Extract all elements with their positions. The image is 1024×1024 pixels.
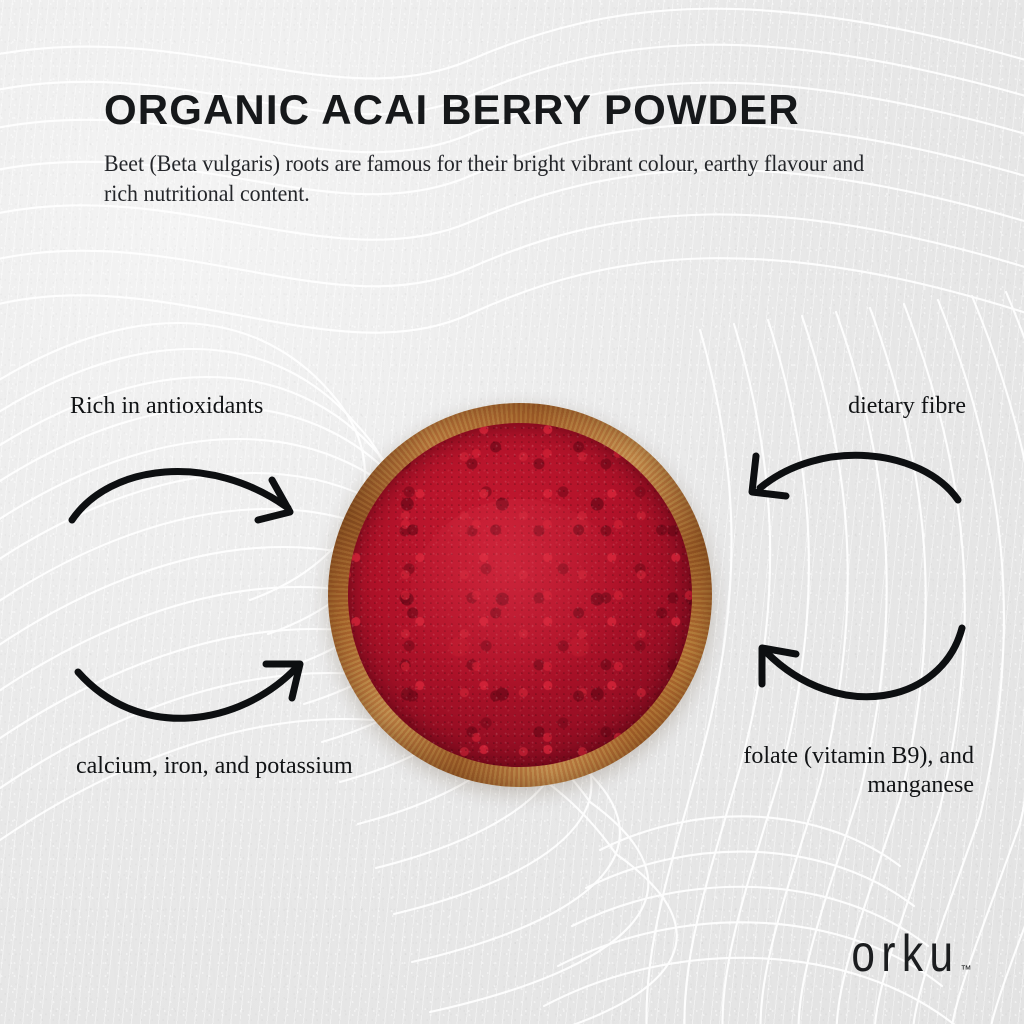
callout-calcium-iron-potassium: calcium, iron, and potassium [76,752,366,781]
header-block: ORGANIC ACAI BERRY POWDER Beet (Beta vul… [104,88,954,210]
callout-dietary-fibre: dietary fibre [666,392,966,421]
callout-folate-manganese: folate (vitamin B9), and manganese [664,742,974,801]
brand-logo-wordmark: orku [851,927,959,979]
callout-rich-in-antioxidants: Rich in antioxidants [70,392,370,421]
brand-logo: orku ™ [842,933,972,979]
bowl-inner-shadow [328,403,712,787]
page-title: ORGANIC ACAI BERRY POWDER [104,88,954,133]
page-subtitle: Beet (Beta vulgaris) roots are famous fo… [104,149,885,210]
trademark-symbol: ™ [961,964,973,976]
infographic-canvas: ORGANIC ACAI BERRY POWDER Beet (Beta vul… [0,0,1024,1024]
product-image-bowl-of-powder [328,403,712,787]
